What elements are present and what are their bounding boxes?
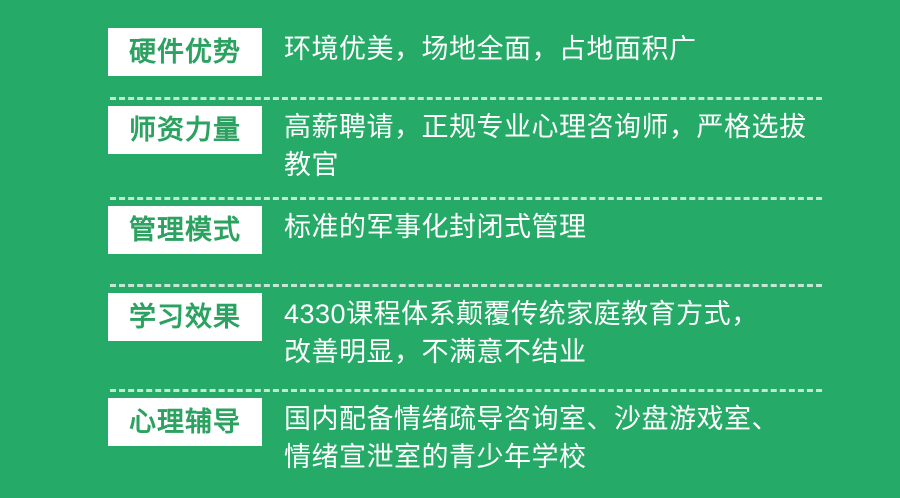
feature-label-chip: 学习效果 xyxy=(108,293,262,341)
feature-row: 学习效果 4330课程体系颠覆传统家庭教育方式， 改善明显，不满意不结业 xyxy=(0,287,900,392)
feature-label-chip: 管理模式 xyxy=(108,206,262,254)
feature-row: 硬件优势 环境优美，场地全面，占地面积广 xyxy=(0,22,900,100)
feature-row: 心理辅导 国内配备情绪疏导咨询室、沙盘游戏室、 情绪宣泄室的青少年学校 xyxy=(0,392,900,498)
feature-label-text: 学习效果 xyxy=(129,304,241,331)
feature-label-text: 师资力量 xyxy=(129,117,241,144)
feature-label-text: 硬件优势 xyxy=(129,39,241,66)
feature-row: 管理模式 标准的军事化封闭式管理 xyxy=(0,200,900,287)
feature-label-chip: 师资力量 xyxy=(108,106,262,154)
feature-label-chip: 心理辅导 xyxy=(108,398,262,446)
feature-label-chip: 硬件优势 xyxy=(108,28,262,76)
feature-label-text: 管理模式 xyxy=(129,217,241,244)
feature-description: 4330课程体系颠覆传统家庭教育方式， 改善明显，不满意不结业 xyxy=(284,295,880,372)
feature-description: 高薪聘请，正规专业心理咨询师，严格选拔 教官 xyxy=(284,108,880,185)
feature-list-poster: 硬件优势 环境优美，场地全面，占地面积广 师资力量 高薪聘请，正规专业心理咨询师… xyxy=(0,0,900,498)
feature-label-text: 心理辅导 xyxy=(129,409,241,436)
feature-description: 环境优美，场地全面，占地面积广 xyxy=(284,30,880,68)
feature-description: 国内配备情绪疏导咨询室、沙盘游戏室、 情绪宣泄室的青少年学校 xyxy=(284,400,880,477)
feature-description: 标准的军事化封闭式管理 xyxy=(284,208,880,246)
feature-row: 师资力量 高薪聘请，正规专业心理咨询师，严格选拔 教官 xyxy=(0,100,900,200)
